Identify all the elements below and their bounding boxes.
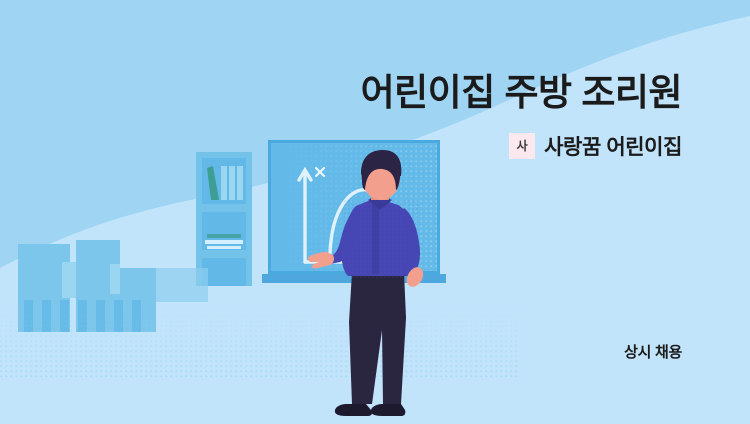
radiator-icon: [0, 240, 520, 380]
bookshelf-icon: [196, 152, 252, 286]
page-title: 어린이집 주방 조리원: [361, 72, 682, 115]
hiring-status-badge: 상시 채용: [624, 341, 682, 362]
job-text-block: 어린이집 주방 조리원 사 사랑꿈 어린이집: [361, 72, 682, 161]
company-badge: 사: [509, 133, 535, 159]
company-row: 사 사랑꿈 어린이집: [361, 131, 682, 161]
job-posting-banner: 어린이집 주방 조리원 사 사랑꿈 어린이집 상시 채용: [0, 0, 750, 424]
company-name: 사랑꿈 어린이집: [544, 131, 682, 161]
